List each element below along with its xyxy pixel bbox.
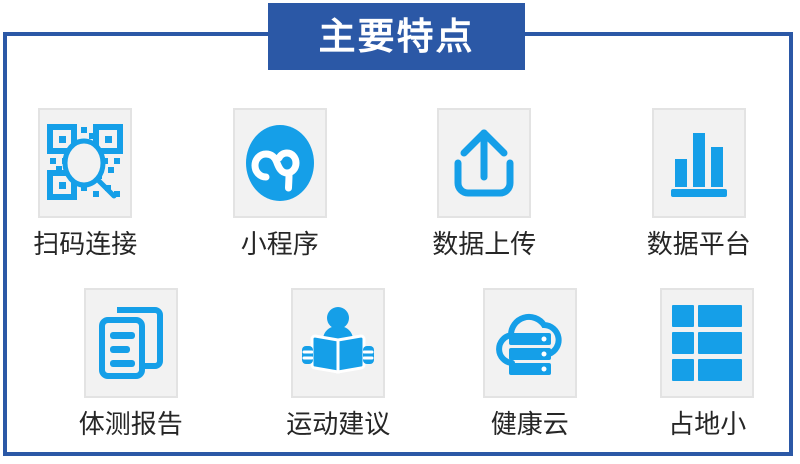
feature-label: 数据平台 [647, 231, 751, 260]
cloud-server-icon [490, 307, 570, 379]
icon-tile [483, 288, 577, 398]
icon-tile [660, 288, 754, 398]
qr-code-scan-icon [46, 123, 124, 203]
feature-row-1: 扫码连接 小程序 [0, 108, 800, 260]
documents-report-icon [95, 304, 167, 382]
feature-label: 健康云 [491, 411, 569, 440]
feature-item-data-platform[interactable]: 数据平台 [598, 108, 800, 260]
feature-label: 数据上传 [432, 231, 536, 260]
feature-item-fitness-report[interactable]: 体测报告 [38, 288, 224, 440]
feature-label: 扫码连接 [33, 231, 137, 260]
feature-row-2: 体测报告 [0, 288, 800, 440]
feature-item-data-upload[interactable]: 数据上传 [383, 108, 586, 260]
feature-label: 小程序 [241, 231, 319, 260]
icon-tile [437, 108, 531, 218]
page-title: 主要特点 [319, 18, 475, 55]
bar-chart-icon [665, 125, 733, 201]
feature-item-health-cloud[interactable]: 健康云 [437, 288, 623, 440]
wechat-mini-program-icon [242, 121, 318, 205]
person-reading-book-icon [299, 306, 377, 380]
feature-label: 占地小 [668, 411, 746, 440]
icon-tile [84, 288, 178, 398]
icon-tile [652, 108, 746, 218]
icon-tile [233, 108, 327, 218]
feature-item-exercise-advice[interactable]: 运动建议 [246, 288, 432, 440]
feature-label: 体测报告 [79, 411, 183, 440]
upload-arrow-icon [448, 125, 520, 201]
feature-item-mini-program[interactable]: 小程序 [179, 108, 382, 260]
feature-label: 运动建议 [286, 411, 390, 440]
feature-item-scan-connect[interactable]: 扫码连接 [0, 108, 187, 260]
icon-tile [38, 108, 132, 218]
icon-tile [291, 288, 385, 398]
feature-item-small-footprint[interactable]: 占地小 [615, 288, 800, 440]
grid-blocks-icon [670, 303, 744, 383]
feature-infographic: 主要特点 [0, 0, 800, 464]
title-banner: 主要特点 [268, 3, 525, 70]
